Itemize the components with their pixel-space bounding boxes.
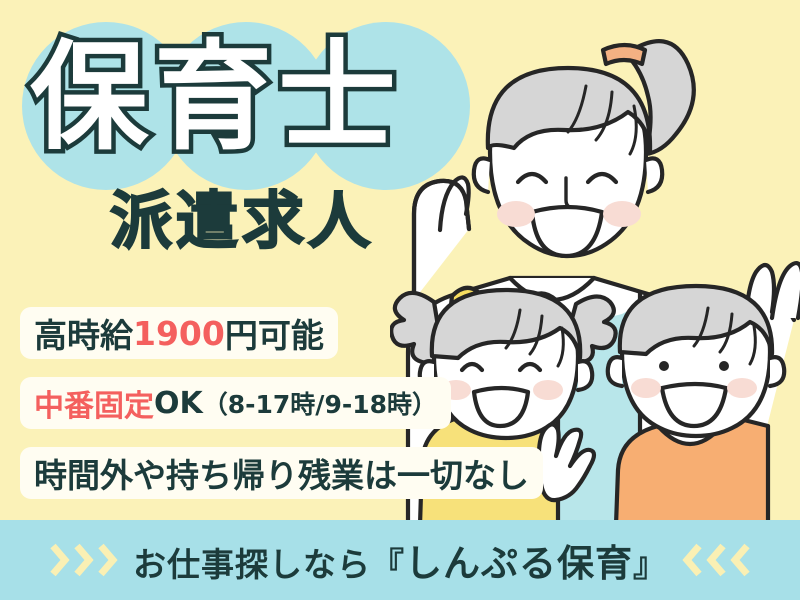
chevron-right-icon xyxy=(97,540,119,580)
chevron-left-icon xyxy=(681,540,703,580)
chevron-left-icon xyxy=(729,540,751,580)
job-ad-banner: 保育士 派遣求人 高時給1900円可能 中番固定OK（8-17時/9-18時） … xyxy=(0,0,800,600)
wage-suffix: 円可能 xyxy=(225,309,324,357)
overtime-text: 時間外や持ち帰り残業は一切なし xyxy=(34,449,529,497)
cta-brand: しんぷる保育 xyxy=(405,542,633,585)
shift-highlight: 中番固定 xyxy=(34,381,154,425)
chevrons-left-group xyxy=(681,540,751,580)
wage-prefix: 高時給 xyxy=(34,309,133,357)
feature-pill-overtime: 時間外や持ち帰り残業は一切なし xyxy=(20,447,543,499)
cta-text: お仕事探しなら『しんぷる保育』 xyxy=(133,533,667,587)
wage-amount: 1900 xyxy=(133,314,225,353)
headline: 保育士 xyxy=(30,38,402,156)
chevrons-right-group xyxy=(49,540,119,580)
feature-pill-shift: 中番固定OK（8-17時/9-18時） xyxy=(20,377,451,429)
shift-note: （8-17時/9-18時） xyxy=(203,385,437,421)
feature-pill-wage: 高時給1900円可能 xyxy=(20,307,338,359)
cta-lead: お仕事探しなら xyxy=(133,545,371,584)
cta-quote-open: 『 xyxy=(371,545,405,584)
chevron-right-icon xyxy=(49,540,71,580)
chevron-right-icon xyxy=(73,540,95,580)
chevron-left-icon xyxy=(705,540,727,580)
cta-quote-close: 』 xyxy=(633,545,667,584)
shift-ok: OK xyxy=(154,386,203,421)
bottom-cta-band: お仕事探しなら『しんぷる保育』 xyxy=(0,520,800,600)
subheadline: 派遣求人 xyxy=(110,190,374,252)
